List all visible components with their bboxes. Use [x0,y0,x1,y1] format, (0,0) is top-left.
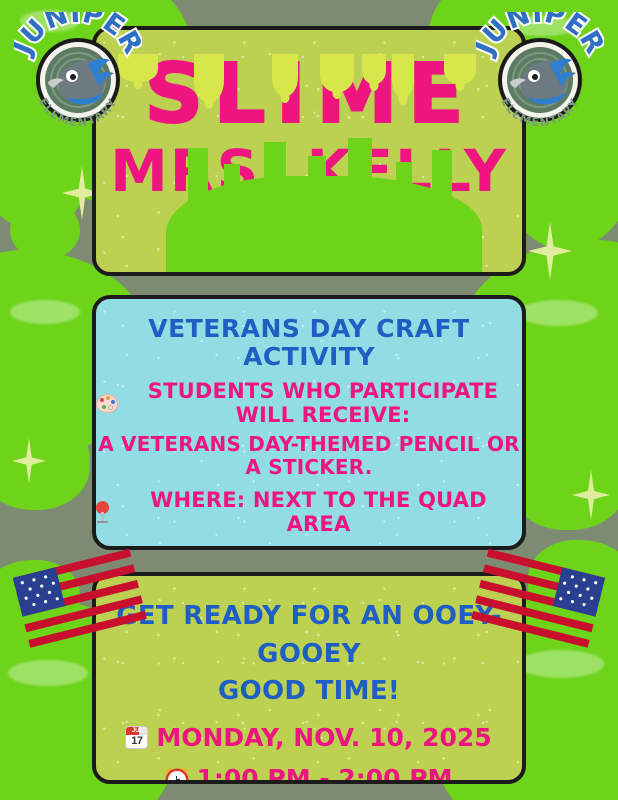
calendar-month: JUL [127,727,147,735]
details-panel: VETERANS DAY CRAFT ACTIVITY STUDENTS WHO… [92,295,526,550]
details-line-text: WHEN: MONDAY [226,546,420,550]
juniper-elementary-logo-right: ELEMENTARY JUNIPER [476,12,604,130]
event-tagline-line1: GET READY FOR AN OOEY-GOOEY [96,598,522,673]
calendar-day: 17 [126,734,147,748]
details-line-receive: STUDENTS WHO PARTICIPATE WILL RECEIVE: [96,379,522,427]
event-content: GET READY FOR AN OOEY-GOOEY GOOD TIME! J… [96,576,522,780]
palette-icon [96,394,118,413]
calendar-icon: JUL 17 [199,547,220,550]
drip [348,138,372,272]
drip [308,156,326,272]
calendar-month: JUL [200,547,220,550]
details-line-where: WHERE: NEXT TO THE QUAD AREA [96,488,522,536]
details-line-text: WHERE: NEXT TO THE QUAD AREA [115,488,522,536]
details-heading: VETERANS DAY CRAFT ACTIVITY [96,315,522,370]
pin-icon [96,501,109,523]
details-line-text: STUDENTS WHO PARTICIPATE WILL RECEIVE: [124,379,522,427]
alarm-clock-icon [166,768,188,784]
drip [224,164,240,272]
details-line-when: JUL 17 WHEN: MONDAY [96,546,522,550]
drip [188,148,208,272]
drip [432,150,452,272]
details-line-prize: A VETERANS DAY-THEMED PENCIL OR A STICKE… [96,433,522,479]
details-line-text: A VETERANS DAY-THEMED PENCIL OR A STICKE… [96,433,522,479]
flyer: SLIME MRS. KELLY [0,0,618,800]
slime-splat-mid-left-4 [0,420,90,510]
event-date-row: JUL 17 MONDAY, NOV. 10, 2025 [96,723,522,752]
event-panel: GET READY FOR AN OOEY-GOOEY GOOD TIME! J… [92,572,526,784]
event-tagline-line2: GOOD TIME! [96,673,522,711]
event-time: 1:00 PM - 2:00 PM [197,764,453,784]
event-date: MONDAY, NOV. 10, 2025 [156,723,491,752]
calendar-icon: JUL 17 [126,727,147,748]
drip [396,162,412,272]
drip [264,142,286,272]
event-time-row: 1:00 PM - 2:00 PM [96,764,522,784]
details-content: VETERANS DAY CRAFT ACTIVITY STUDENTS WHO… [96,299,522,546]
title-panel: SLIME MRS. KELLY [92,26,526,276]
juniper-elementary-logo-left: ELEMENTARY JUNIPER [14,12,142,130]
title-slime: SLIME [96,54,522,136]
